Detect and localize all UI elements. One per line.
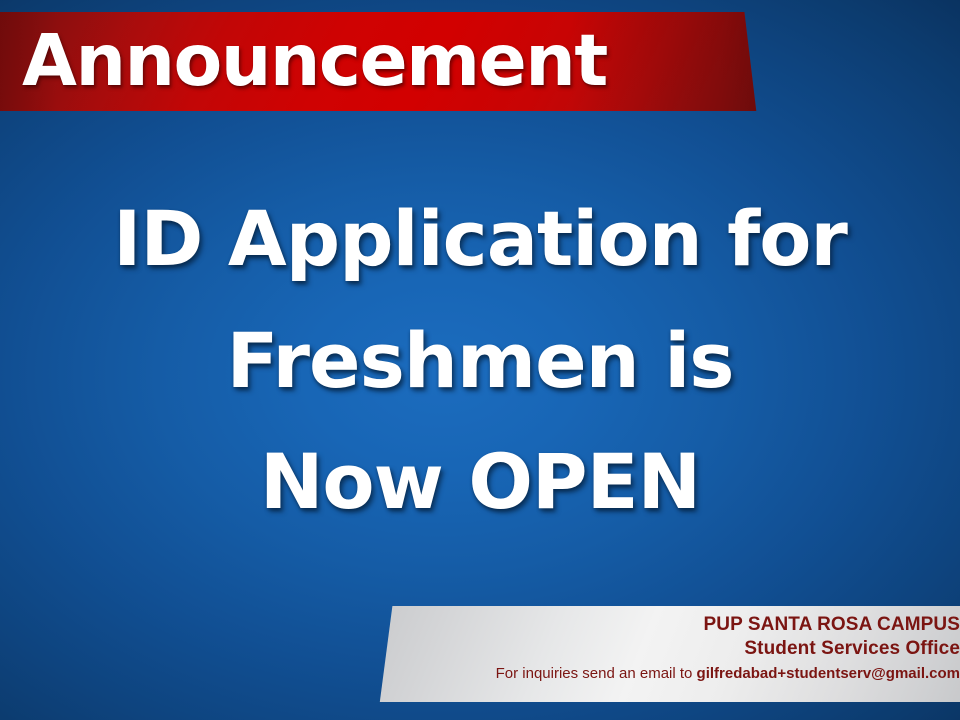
announcement-banner-label: Announcement [22,25,607,96]
footer-contact-block: PUP SANTA ROSA CAMPUS Student Services O… [372,606,960,702]
headline-block: ID Application for Freshmen is Now OPEN [0,178,960,542]
footer-organization: PUP SANTA ROSA CAMPUS [496,614,960,636]
footer-email-address: gilfredabad+studentserv@gmail.com [697,665,960,682]
headline-line-2: Freshmen is [0,300,960,422]
footer-inquiry-line: For inquiries send an email to gilfredab… [496,665,960,682]
headline-line-3: Now OPEN [0,422,960,542]
announcement-banner: Announcement [0,12,776,111]
headline-line-1: ID Application for [0,178,960,300]
footer-office: Student Services Office [496,638,960,660]
footer-text-group: PUP SANTA ROSA CAMPUS Student Services O… [496,614,960,682]
announcement-slide: Announcement ID Application for Freshmen… [0,0,960,720]
footer-inquiry-prefix: For inquiries send an email to [496,665,697,682]
